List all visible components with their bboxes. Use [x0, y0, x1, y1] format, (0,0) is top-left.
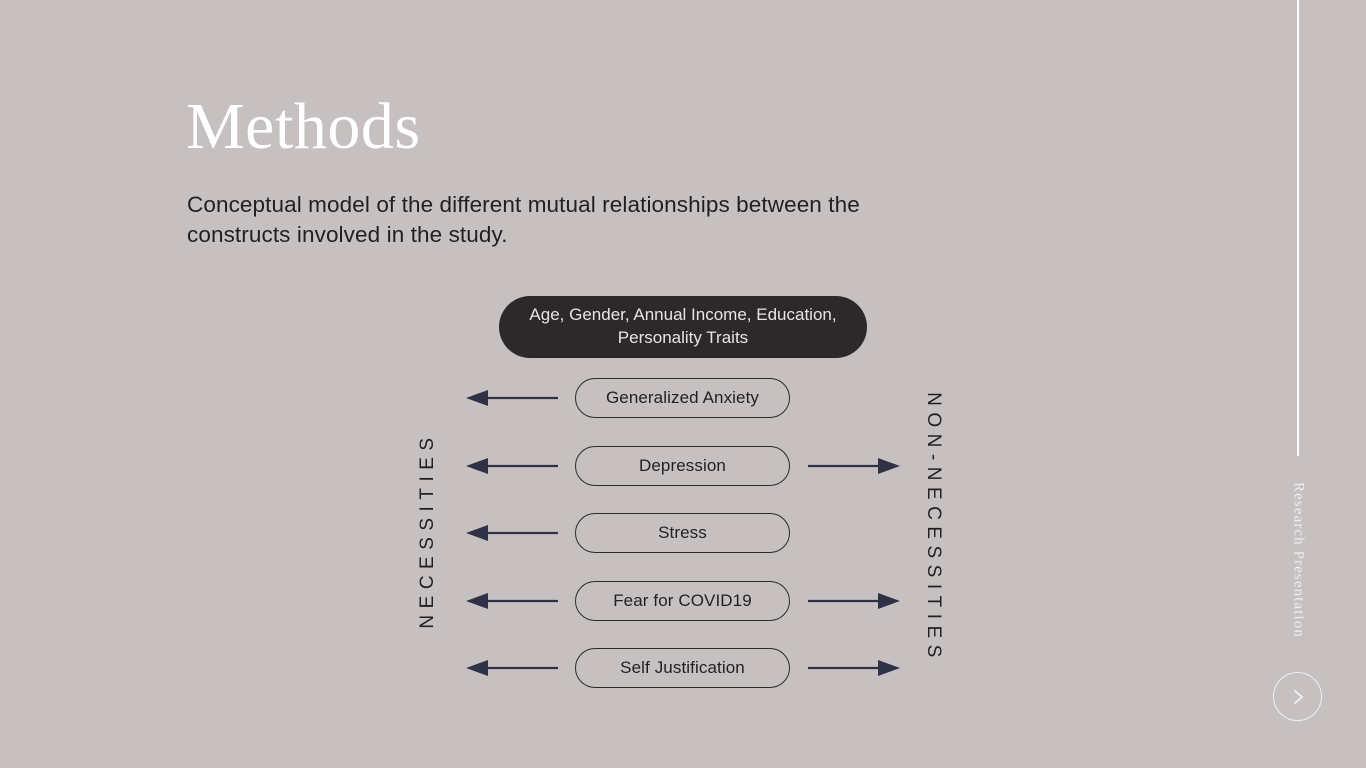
next-slide-button[interactable]: [1273, 672, 1322, 721]
construct-pill-stress[interactable]: Stress: [575, 513, 790, 553]
axis-label-necessities: NECESSITIES: [417, 431, 439, 628]
rail-label: Research Presentation: [1290, 482, 1307, 638]
page-title: Methods: [186, 94, 421, 160]
arrow-right-icon-row-2: [808, 456, 900, 476]
arrow-left-icon-row-3: [466, 523, 558, 543]
construct-pill-self-justification[interactable]: Self Justification: [575, 648, 790, 688]
construct-pill-fear-for-covid19[interactable]: Fear for COVID19: [575, 581, 790, 621]
arrow-left-icon-row-5: [466, 658, 558, 678]
rail-divider: [1297, 0, 1299, 456]
arrow-left-icon-row-1: [466, 388, 558, 408]
construct-pill-depression[interactable]: Depression: [575, 446, 790, 486]
arrow-left-icon-row-2: [466, 456, 558, 476]
arrow-right-icon-row-5: [808, 658, 900, 678]
construct-pill-generalized-anxiety[interactable]: Generalized Anxiety: [575, 378, 790, 418]
axis-label-non-necessities: NON-NECESSITIES: [922, 392, 944, 664]
covariates-box: Age, Gender, Annual Income, Education, P…: [499, 296, 867, 358]
slide-canvas: Methods Conceptual model of the differen…: [0, 0, 1366, 768]
page-subtitle: Conceptual model of the different mutual…: [187, 190, 887, 249]
arrow-right-icon-row-4: [808, 591, 900, 611]
arrow-left-icon-row-4: [466, 591, 558, 611]
chevron-right-icon: [1288, 687, 1308, 707]
